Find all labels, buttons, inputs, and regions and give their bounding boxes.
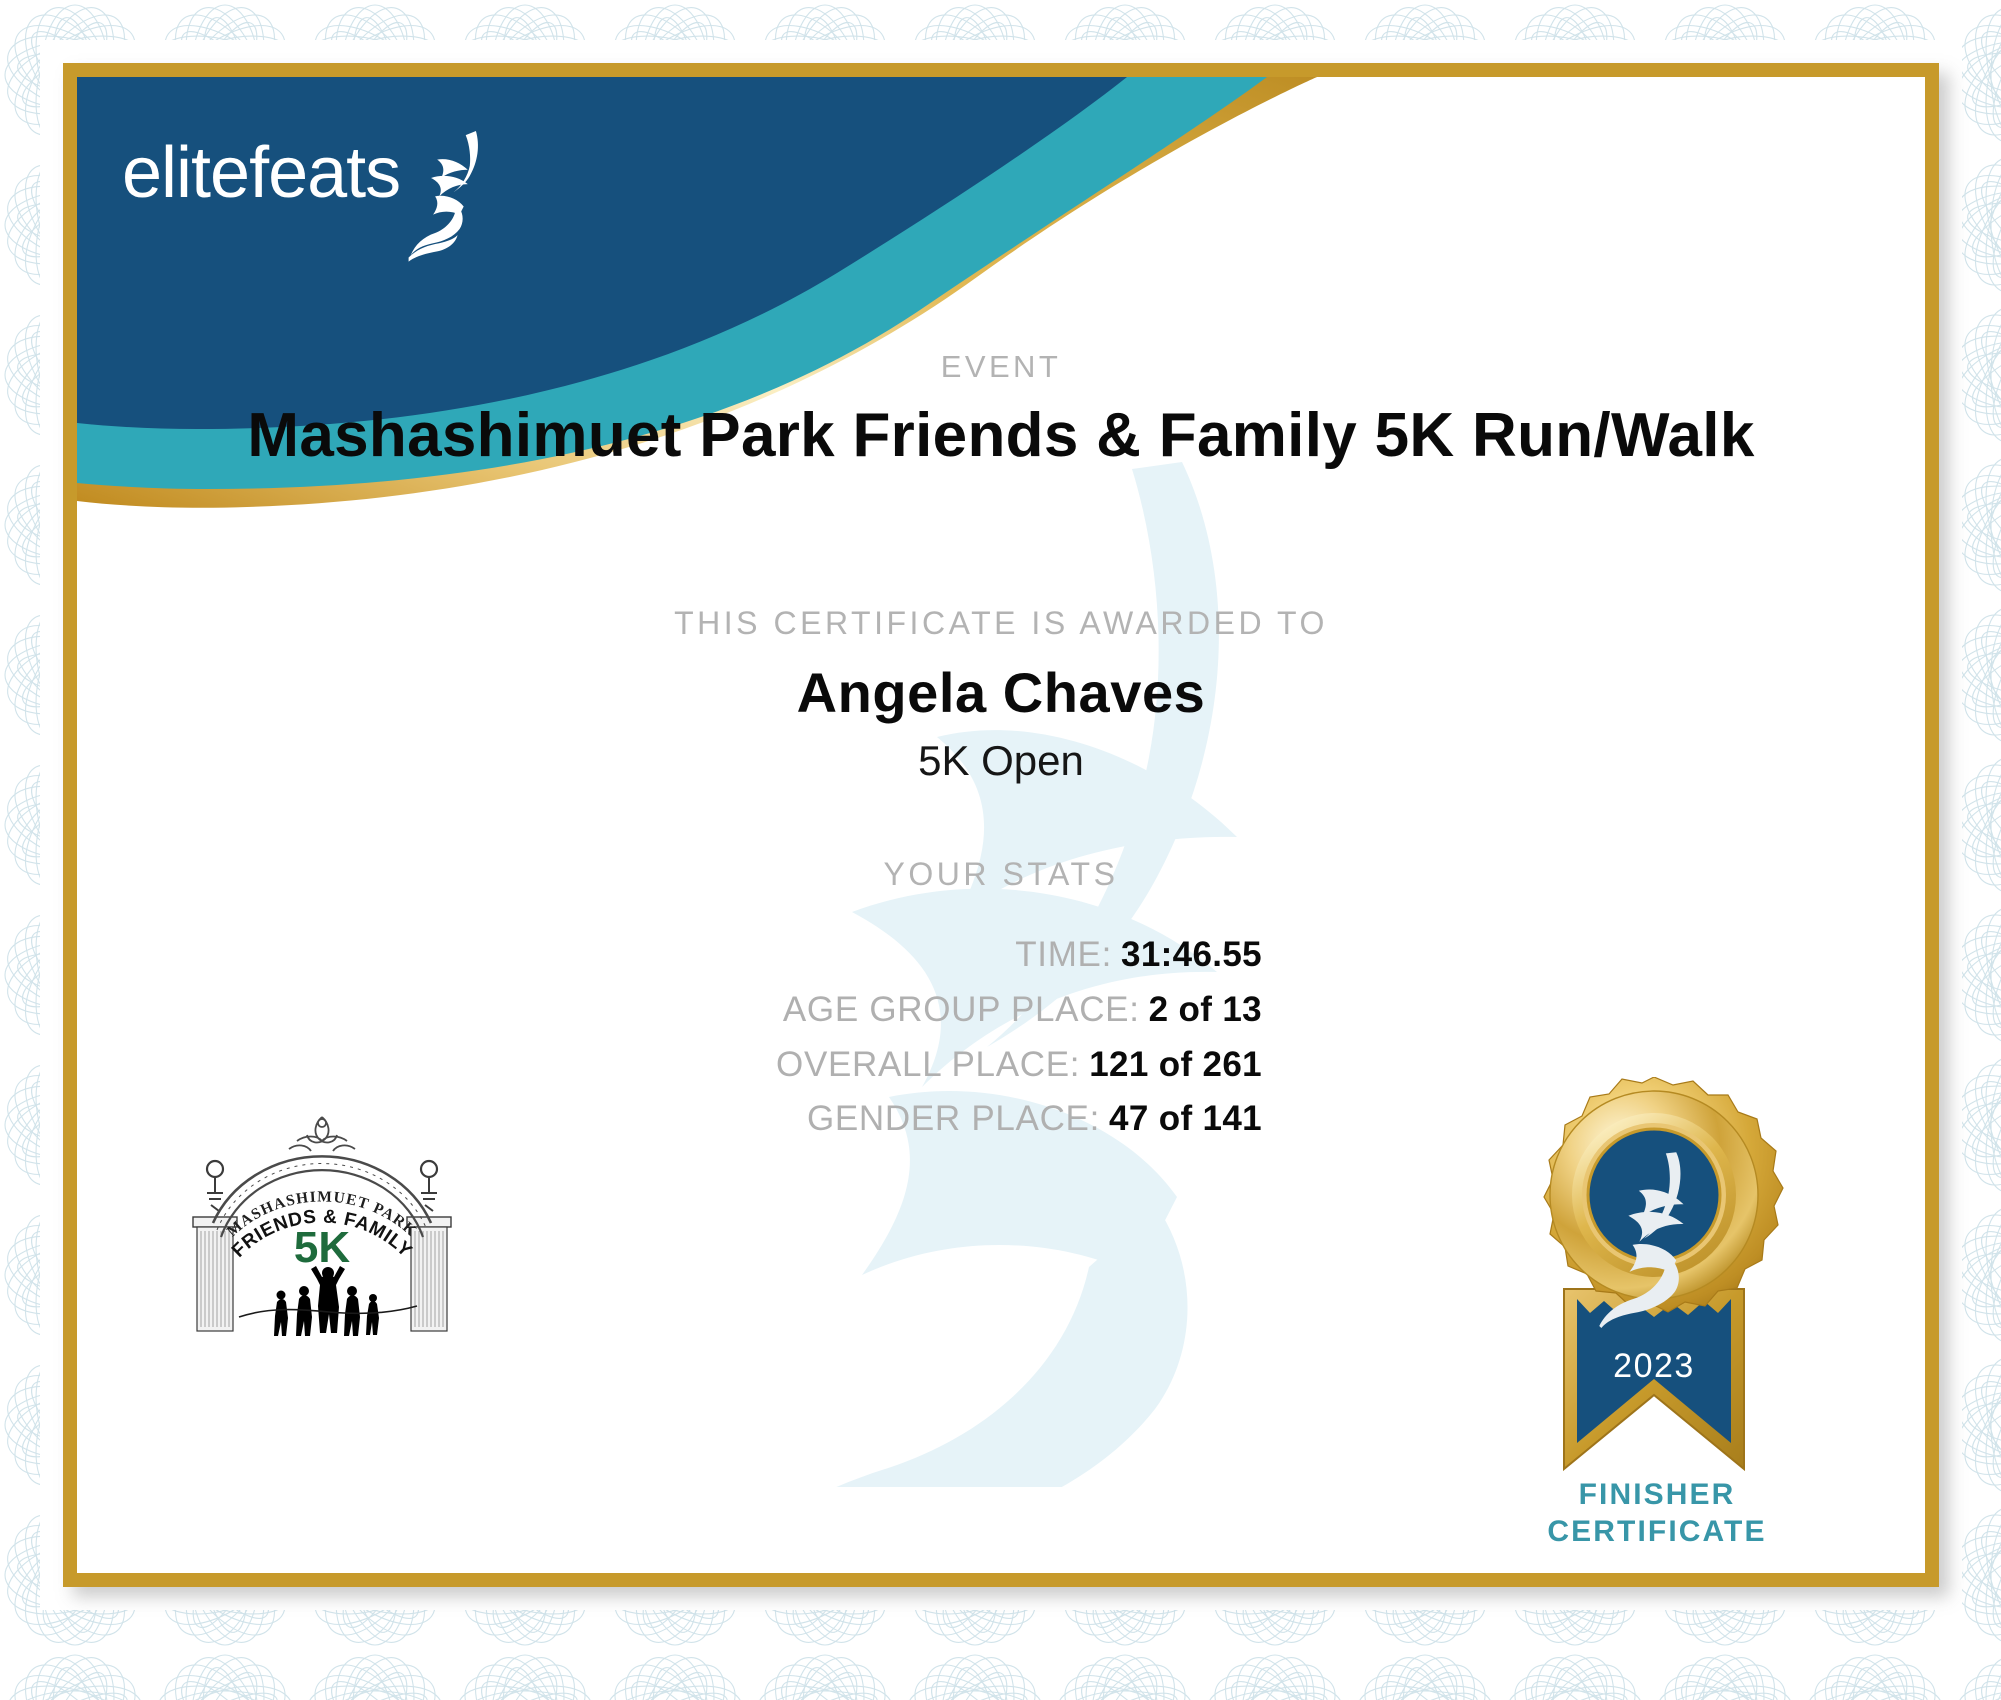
event-kicker-label: EVENT	[77, 349, 1925, 385]
your-stats-label: YOUR STATS	[77, 856, 1925, 893]
stat-row-time: TIME:31:46.55	[77, 937, 1262, 974]
badge-caption-line1: FINISHER	[1462, 1477, 1852, 1514]
stat-label-overall-place: OVERALL PLACE:	[776, 1045, 1080, 1084]
runner-silhouettes	[274, 1266, 379, 1336]
badge-year-text: 2023	[1613, 1347, 1695, 1385]
gold-starburst-medal-icon: 2023	[1482, 1077, 1827, 1497]
certificate-plate: elitefeats	[63, 63, 1939, 1587]
ribbon-icon: 2023	[1564, 1289, 1744, 1469]
stat-value-time: 31:46.55	[1121, 935, 1262, 974]
stat-row-overall-place: OVERALL PLACE:121 of 261	[77, 1047, 1262, 1084]
arch-finial	[289, 1117, 355, 1151]
logo-distance-text: 5K	[294, 1223, 350, 1272]
stat-label-age-group-place: AGE GROUP PLACE:	[783, 990, 1140, 1029]
stat-label-gender-place: GENDER PLACE:	[807, 1099, 1100, 1138]
stat-value-overall-place: 121 of 261	[1089, 1045, 1262, 1084]
stat-row-age-group-place: AGE GROUP PLACE:2 of 13	[77, 992, 1262, 1029]
recipient-name: Angela Chaves	[77, 660, 1925, 725]
event-title: Mashashimuet Park Friends & Family 5K Ru…	[77, 400, 1925, 471]
awarded-to-label: THIS CERTIFICATE IS AWARDED TO	[77, 605, 1925, 642]
stat-value-gender-place: 47 of 141	[1109, 1099, 1262, 1138]
division-name: 5K Open	[77, 737, 1925, 785]
stat-value-age-group-place: 2 of 13	[1149, 990, 1262, 1029]
stat-label-time: TIME:	[1015, 935, 1112, 974]
certificate-inner-area: elitefeats	[77, 77, 1925, 1573]
badge-caption: FINISHER CERTIFICATE	[1462, 1477, 1852, 1550]
park-gate-arch-with-runners-icon: MASHASHIMUET PARK FRIENDS & FAMILY 5K	[177, 1107, 467, 1337]
badge-caption-line2: CERTIFICATE	[1462, 1514, 1852, 1551]
